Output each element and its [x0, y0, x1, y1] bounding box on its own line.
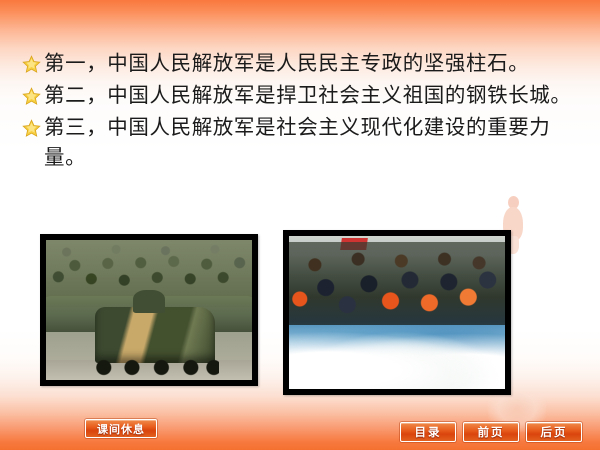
previous-page-button[interactable]: 前页	[463, 422, 519, 442]
next-page-button[interactable]: 后页	[526, 422, 582, 442]
star-icon	[22, 87, 41, 106]
star-icon	[22, 55, 41, 74]
bullet-list: 第一，中国人民解放军是人民民主专政的坚强柱石。 第二，中国人民解放军是捍卫社会主…	[22, 48, 582, 174]
presentation-slide: 第一，中国人民解放军是人民民主专政的坚强柱石。 第二，中国人民解放军是捍卫社会主…	[0, 0, 600, 450]
contents-button[interactable]: 目录	[400, 422, 456, 442]
list-item: 第三，中国人民解放军是社会主义现代化建设的重要力量。	[22, 112, 582, 172]
bullet-text: 第一，中国人民解放军是人民民主专政的坚强柱石。	[44, 48, 582, 78]
bullet-text: 第三，中国人民解放军是社会主义现代化建设的重要力量。	[44, 112, 582, 172]
list-item: 第二，中国人民解放军是捍卫社会主义祖国的钢铁长城。	[22, 80, 582, 110]
bullet-text: 第二，中国人民解放军是捍卫社会主义祖国的钢铁长城。	[44, 80, 582, 110]
flood-rescue-photo	[283, 230, 511, 395]
military-parade-photo	[40, 234, 258, 386]
list-item: 第一，中国人民解放军是人民民主专政的坚强柱石。	[22, 48, 582, 78]
class-break-button[interactable]: 课间休息	[85, 419, 157, 438]
star-icon	[22, 119, 41, 138]
